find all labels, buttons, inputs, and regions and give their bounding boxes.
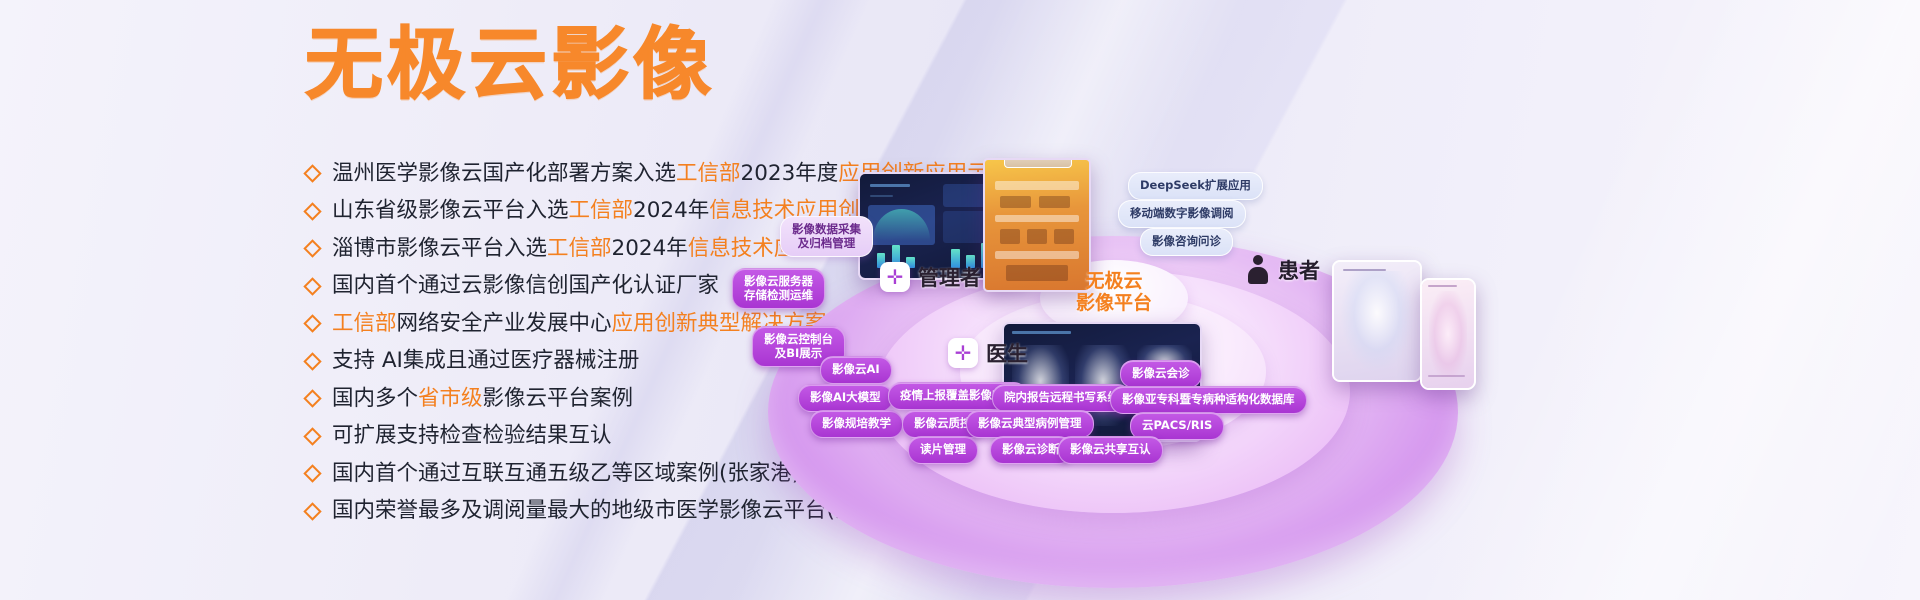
bullet-text: 可扩展支持检查检验结果互认	[332, 424, 612, 448]
diamond-bullet-icon	[303, 389, 321, 407]
role-doctor[interactable]: ✛ 医生	[948, 338, 1028, 368]
banner-stage: 无极云影像 温州医学影像云国产化部署方案入选工信部2023年度应用创新应用示范案…	[0, 0, 1920, 600]
diamond-bullet-icon	[303, 427, 321, 445]
capability-pill[interactable]: 读片管理	[908, 436, 978, 464]
person-icon	[1246, 255, 1270, 285]
capability-pill[interactable]: 影像咨询问诊	[1140, 228, 1233, 256]
plus-cross-icon: ✛	[880, 262, 910, 292]
bullet-segment: 网络安全产业发展中心	[397, 311, 612, 336]
bullet-text: 国内多个省市级影像云平台案例	[332, 387, 633, 411]
role-patient-label: 患者	[1278, 255, 1320, 285]
role-admin[interactable]: ✛ 管理者	[880, 262, 981, 292]
capability-pill[interactable]: 影像云共享互认	[1058, 436, 1163, 464]
capability-pill[interactable]: 影像云服务器 存储检测运维	[732, 268, 825, 309]
bullet-segment: 可扩展支持检查检验结果互认	[332, 423, 612, 448]
diamond-bullet-icon	[303, 164, 321, 182]
role-patient[interactable]: 患者	[1246, 255, 1320, 285]
bullet-segment: 2024年	[633, 198, 709, 223]
capability-pill[interactable]: 影像云典型病例管理	[966, 410, 1094, 438]
diamond-bullet-icon	[303, 464, 321, 482]
capability-pill[interactable]: 影像亚专科暨专病种适构化数据库	[1110, 386, 1307, 414]
role-admin-label: 管理者	[918, 262, 981, 292]
bullet-segment: 国内多个	[332, 386, 418, 411]
bullet-text: 国内首个通过云影像信创国产化认证厂家	[332, 274, 719, 298]
mobile-imaging-screen	[1420, 278, 1476, 390]
capability-pill[interactable]: 影像数据采集 及归档管理	[780, 216, 873, 257]
diamond-bullet-icon	[303, 502, 321, 520]
bullet-segment: 工信部	[547, 236, 612, 261]
page-title: 无极云影像	[305, 22, 715, 108]
role-doctor-label: 医生	[986, 338, 1028, 368]
capability-pill[interactable]: 影像云会诊	[1120, 360, 1202, 388]
tablet-xray-screen	[1332, 260, 1422, 382]
core-platform-label: 无极云 影像平台	[1036, 270, 1192, 314]
bullet-segment: 山东省级影像云平台入选	[332, 198, 569, 223]
capability-pill[interactable]: 影像规培教学	[810, 410, 903, 438]
bullet-segment: 淄博市影像云平台入选	[332, 236, 547, 261]
capability-pill[interactable]: DeepSeek扩展应用	[1128, 172, 1263, 200]
plus-cross-icon: ✛	[948, 338, 978, 368]
diamond-bullet-icon	[303, 314, 321, 332]
diamond-bullet-icon	[303, 352, 321, 370]
bullet-segment: 2024年	[612, 236, 688, 261]
bullet-segment: 省市级	[418, 386, 483, 411]
capability-pill[interactable]: 影像AI大模型	[798, 384, 893, 412]
bullet-segment: 温州医学影像云国产化部署方案入选	[332, 161, 676, 186]
bullet-segment: 影像云平台案例	[483, 386, 634, 411]
bullet-segment: 工信部	[332, 311, 397, 336]
capability-pill[interactable]: 影像云AI	[820, 356, 892, 384]
diamond-bullet-icon	[303, 202, 321, 220]
diamond-bullet-icon	[303, 277, 321, 295]
platform-architecture-diagram: 无极云 影像平台 ✛ 管理者 ✛ 医生 患者 影像数据采集 及归档管理影像云服务…	[710, 110, 1920, 600]
bullet-text: 支持 AI集成且通过医疗器械注册	[332, 349, 639, 373]
capability-pill[interactable]: 移动端数字影像调阅	[1118, 200, 1246, 228]
bullet-segment: 支持 AI集成且通过医疗器械注册	[332, 348, 639, 373]
bullet-segment: 国内首个通过云影像信创国产化认证厂家	[332, 273, 719, 298]
bullet-segment: 工信部	[569, 198, 634, 223]
diamond-bullet-icon	[303, 239, 321, 257]
